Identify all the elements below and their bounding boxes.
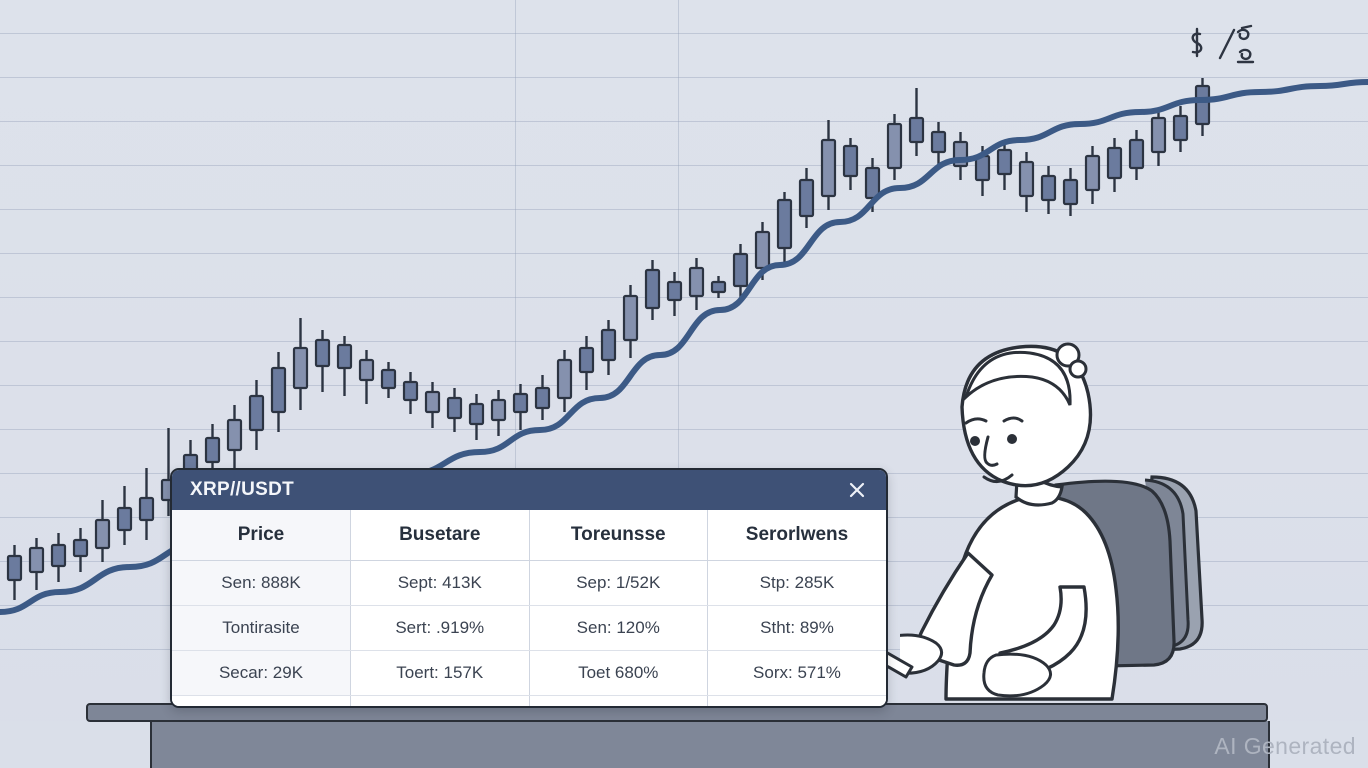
cell-empty-1 xyxy=(351,696,530,709)
table-row-empty xyxy=(172,696,886,709)
cell-r1c0: Tontirasite xyxy=(172,606,351,651)
cell-r0c0: Sen: 888K xyxy=(172,561,351,606)
screenshot-scene: XRP//USDT Price Busetare Toreunsse Seror… xyxy=(0,0,1368,768)
cell-r2c0: Secar: 29K xyxy=(172,651,351,696)
table-row: Sen: 888K Sept: 413K Sep: 1/52K Stp: 285… xyxy=(172,561,886,606)
column-header-price[interactable]: Price xyxy=(172,510,351,561)
desk-background-left xyxy=(0,721,150,768)
cell-r1c1: Sert: .919% xyxy=(351,606,530,651)
cell-empty-2 xyxy=(529,696,708,709)
ai-generated-watermark: AI Generated xyxy=(1214,733,1356,760)
cell-r1c3: Stht: 89% xyxy=(708,606,887,651)
cell-r0c2: Sep: 1/52K xyxy=(529,561,708,606)
cell-r2c3: Sorx: 571% xyxy=(708,651,887,696)
quote-table-head: Price Busetare Toreunsse Serorlwens xyxy=(172,510,886,561)
quote-panel[interactable]: XRP//USDT Price Busetare Toreunsse Seror… xyxy=(170,468,888,708)
table-row: Tontirasite Sert: .919% Sen: 120% Stht: … xyxy=(172,606,886,651)
close-x-icon[interactable] xyxy=(844,477,870,503)
desk xyxy=(0,700,1368,768)
quote-table: Price Busetare Toreunsse Serorlwens Sen:… xyxy=(172,510,886,708)
person-head xyxy=(962,344,1091,486)
desk-front-panel xyxy=(150,721,1270,768)
person-illustration xyxy=(900,325,1240,720)
currency-glyph-icon xyxy=(1178,18,1268,78)
cell-r1c2: Sen: 120% xyxy=(529,606,708,651)
table-row: Secar: 29K Toert: 157K Toet 680% Sorx: 5… xyxy=(172,651,886,696)
column-header-busetare[interactable]: Busetare xyxy=(351,510,530,561)
cell-r0c1: Sept: 413K xyxy=(351,561,530,606)
table-header-row: Price Busetare Toreunsse Serorlwens xyxy=(172,510,886,561)
cell-r2c2: Toet 680% xyxy=(529,651,708,696)
cell-empty-3 xyxy=(708,696,887,709)
column-header-serorlwens[interactable]: Serorlwens xyxy=(708,510,887,561)
cell-r0c3: Stp: 285K xyxy=(708,561,887,606)
cell-r2c1: Toert: 157K xyxy=(351,651,530,696)
panel-title: XRP//USDT xyxy=(190,479,294,501)
quote-table-body: Sen: 888K Sept: 413K Sep: 1/52K Stp: 285… xyxy=(172,561,886,709)
cell-empty-0 xyxy=(172,696,351,709)
quote-panel-header: XRP//USDT xyxy=(172,470,886,510)
column-header-toreunsse[interactable]: Toreunsse xyxy=(529,510,708,561)
